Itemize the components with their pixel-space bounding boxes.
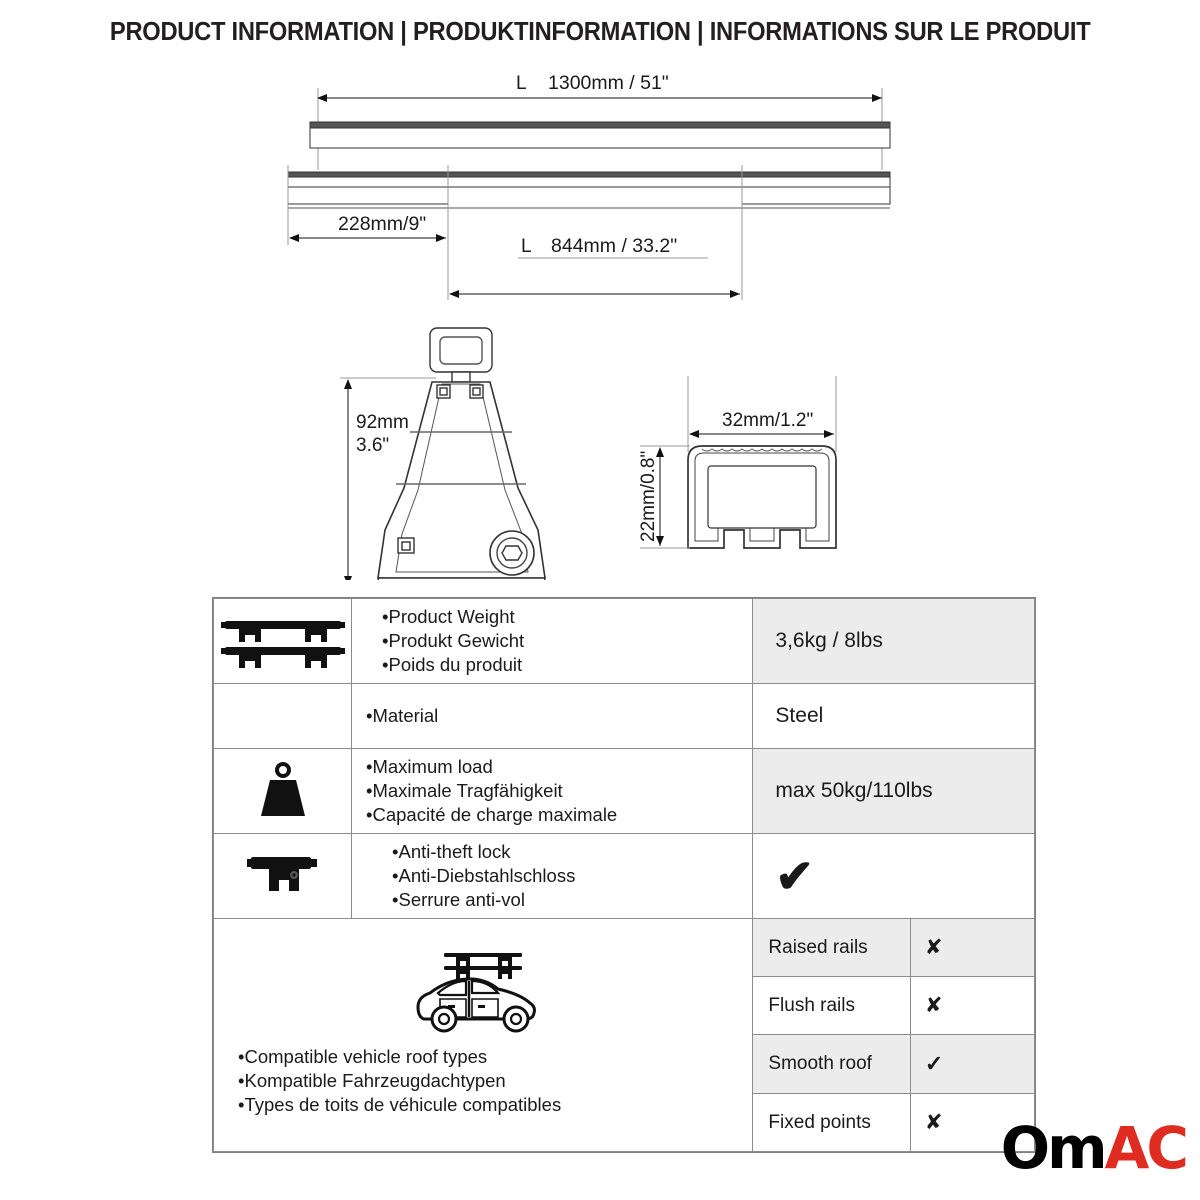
material-icon-empty: [214, 684, 352, 749]
lock-foot-icon: [214, 834, 352, 919]
label-line: •Product Weight: [382, 605, 746, 629]
compat-option-row: Smooth roof ✓: [753, 1035, 1034, 1094]
foot-height-dimension-line2: 3.6": [356, 435, 389, 456]
label-line: •Produkt Gewicht: [382, 629, 746, 653]
offset-dimension: 228mm/9": [338, 213, 426, 235]
compatibility-labels-cell: •Compatible vehicle roof types •Kompatib…: [214, 919, 753, 1152]
cross-icon: ✘: [925, 993, 943, 1017]
label-line: •Maximum load: [366, 755, 746, 779]
compatibility-options-cell: Raised rails ✘ Flush rails ✘: [753, 919, 1035, 1152]
anti-theft-lock-value: ✔: [753, 834, 1035, 919]
foot-front-view: [378, 328, 545, 580]
omac-logo: OmAC: [1001, 1114, 1186, 1182]
check-icon: ✓: [925, 1051, 943, 1076]
top-view-label: L: [516, 73, 527, 94]
table-row-anti-theft-lock: •Anti-theft lock •Anti-Diebstahlschloss …: [214, 834, 1035, 919]
label-line: •Compatible vehicle roof types: [238, 1045, 746, 1069]
compat-option-mark: ✓: [910, 1035, 1034, 1094]
technical-drawing: L 1300mm / 51" 228mm/9" L: [0, 60, 1200, 580]
product-weight-value-text: 3,6kg / 8lbs: [775, 629, 882, 652]
foot-height-dimension-line1: 92mm: [356, 412, 409, 433]
maximum-load-value-text: max 50kg/110lbs: [775, 779, 932, 802]
table-row-material: •Material Steel: [214, 684, 1035, 749]
compat-option-mark: ✘: [910, 919, 1034, 977]
table-row-product-weight: •Product Weight •Produkt Gewicht •Poids …: [214, 599, 1035, 684]
compat-option-mark: ✘: [910, 977, 1034, 1035]
top-view-dimension: 1300mm / 51": [548, 72, 669, 94]
check-icon: ✔: [775, 850, 814, 902]
cross-icon: ✘: [925, 1110, 943, 1134]
anti-theft-lock-labels: •Anti-theft lock •Anti-Diebstahlschloss …: [352, 834, 753, 919]
label-line: •Capacité de charge maximale: [366, 803, 746, 827]
maximum-load-value: max 50kg/110lbs: [753, 749, 1035, 834]
cross-icon: ✘: [925, 935, 943, 959]
label-line: •Anti-theft lock: [392, 840, 746, 864]
bar-cross-section: [688, 446, 836, 548]
page-title-text: PRODUCT INFORMATION | PRODUKTINFORMATION…: [110, 18, 1090, 47]
technical-drawing-svg: L 1300mm / 51" 228mm/9" L: [0, 60, 1200, 580]
profile-height-dimension: 22mm/0.8": [638, 451, 659, 542]
two-crossbars-icon: [214, 599, 352, 684]
compat-option-name: Fixed points: [753, 1094, 910, 1152]
product-weight-value: 3,6kg / 8lbs: [753, 599, 1035, 684]
table-row-maximum-load: •Maximum load •Maximale Tragfähigkeit •C…: [214, 749, 1035, 834]
label-line: •Poids du produit: [382, 653, 746, 677]
label-line: •Types de toits de véhicule compatibles: [238, 1093, 568, 1117]
compat-option-name: Flush rails: [753, 977, 910, 1035]
label-line: •Maximale Tragfähigkeit: [366, 779, 746, 803]
spread-dimension: 844mm / 33.2": [551, 235, 677, 257]
logo-text-red: AC: [1105, 1114, 1186, 1182]
compat-option-name: Smooth roof: [753, 1035, 910, 1094]
material-value-text: Steel: [775, 704, 823, 727]
compat-option-row: Fixed points ✘: [753, 1094, 1034, 1152]
table-row-compatibility: •Compatible vehicle roof types •Kompatib…: [214, 919, 1035, 1152]
material-labels: •Material: [352, 684, 753, 749]
car-with-roof-bars-icon: [220, 947, 746, 1039]
label-line: •Serrure anti-vol: [392, 888, 746, 912]
compat-option-name: Raised rails: [753, 919, 910, 977]
page-title: PRODUCT INFORMATION | PRODUKTINFORMATION…: [0, 18, 1200, 47]
maximum-load-labels: •Maximum load •Maximale Tragfähigkeit •C…: [352, 749, 753, 834]
product-information-page: PRODUCT INFORMATION | PRODUKTINFORMATION…: [0, 0, 1200, 1200]
compatibility-options-table: Raised rails ✘ Flush rails ✘: [753, 919, 1034, 1151]
specifications-table: •Product Weight •Produkt Gewicht •Poids …: [212, 597, 1036, 1153]
material-value: Steel: [753, 684, 1035, 749]
label-line: •Kompatible Fahrzeugdachtypen: [238, 1069, 746, 1093]
logo-text-black: Om: [1001, 1114, 1105, 1182]
profile-width-dimension: 32mm/1.2": [722, 410, 813, 431]
label-line: •Anti-Diebstahlschloss: [392, 864, 746, 888]
compat-option-row: Raised rails ✘: [753, 919, 1034, 977]
weight-icon: [214, 749, 352, 834]
label-line: •Material: [366, 704, 746, 728]
spread-label: L: [521, 236, 532, 257]
product-weight-labels: •Product Weight •Produkt Gewicht •Poids …: [352, 599, 753, 684]
compat-option-row: Flush rails ✘: [753, 977, 1034, 1035]
